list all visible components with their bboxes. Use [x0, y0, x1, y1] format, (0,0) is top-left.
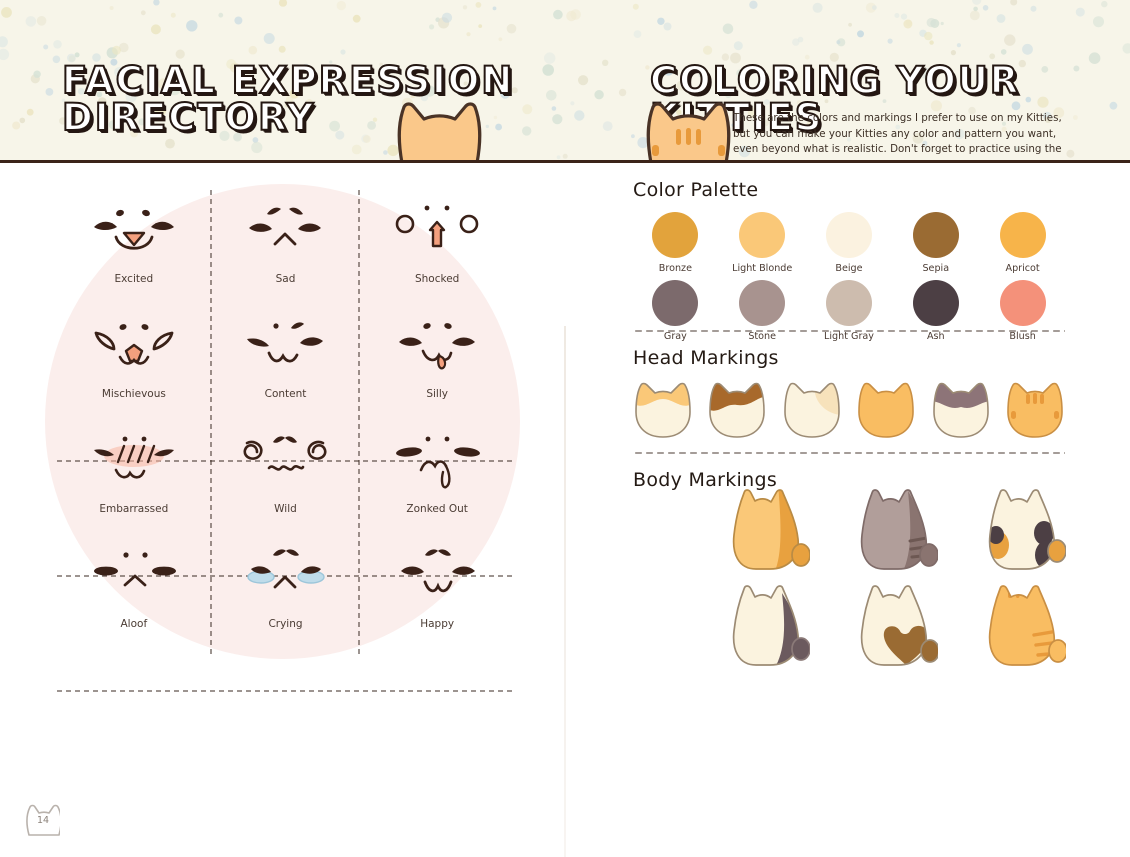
section-divider	[633, 330, 1065, 332]
head-marking-sepia-cap	[706, 381, 768, 439]
swatch-beige: Beige	[806, 212, 893, 274]
content-area: Excited Sad	[0, 163, 1130, 694]
swatch-sepia: Sepia	[892, 212, 979, 274]
expression-cell-silly: Silly	[361, 308, 513, 423]
swatch-label: Light Blonde	[732, 263, 792, 274]
swatch-color	[739, 212, 785, 258]
swatch-light-gray: Light Gray	[806, 280, 893, 342]
swatch-color	[826, 280, 872, 326]
swatch-label: Blush	[1009, 331, 1035, 342]
expression-cell-content: Content	[210, 308, 362, 423]
expression-label: Shocked	[415, 273, 459, 285]
swatch-color	[913, 212, 959, 258]
expression-label: Wild	[274, 503, 297, 515]
expression-grid: Excited Sad	[58, 193, 513, 653]
face-aloof-art	[80, 542, 188, 614]
peeking-cat-icon	[392, 101, 487, 163]
face-wild-art	[231, 427, 339, 499]
grid-divider-horizontal	[55, 690, 515, 692]
body-markings-row	[726, 579, 1066, 667]
color-palette-grid: Bronze Light Blonde Beige Sepia Apricot	[632, 212, 1066, 342]
page-number-left: 14	[37, 815, 49, 826]
swatch-label: Gray	[664, 331, 687, 342]
face-zonked-out-art	[383, 427, 491, 499]
face-excited-art	[80, 197, 188, 269]
face-content-art	[231, 312, 339, 384]
expression-label: Aloof	[121, 618, 148, 630]
face-silly-art	[383, 312, 491, 384]
expression-label: Embarrassed	[99, 503, 168, 515]
header-band: FACIAL EXPRESSION DIRECTORY COLORING YOU…	[0, 0, 1130, 163]
face-happy-art	[383, 542, 491, 614]
expression-label: Happy	[420, 618, 454, 630]
body-marking-apricot-two-tone	[726, 483, 810, 571]
swatch-blush: Blush	[979, 280, 1066, 342]
section-heading-color-palette: Color Palette	[633, 179, 758, 201]
expression-label: Zonked Out	[406, 503, 467, 515]
body-markings-grid	[726, 483, 1066, 675]
swatch-label: Ash	[927, 331, 945, 342]
intro-paragraph: These are the colors and markings I pref…	[733, 111, 1076, 163]
swatch-bronze: Bronze	[632, 212, 719, 274]
expression-cell-zonked-out: Zonked Out	[361, 423, 513, 538]
swatch-gray: Gray	[632, 280, 719, 342]
swatch-label: Beige	[835, 263, 862, 274]
page-number-badge-left: 14	[26, 804, 60, 836]
swatch-label: Bronze	[659, 263, 692, 274]
peeking-tabby-cat-icon	[641, 101, 736, 163]
body-marking-calico	[982, 483, 1066, 571]
expression-label: Sad	[276, 273, 296, 285]
body-marking-ash-rear	[726, 579, 810, 667]
swatch-color	[913, 280, 959, 326]
head-marking-solid-apricot	[855, 381, 917, 439]
expression-cell-aloof: Aloof	[58, 538, 210, 653]
swatch-color	[739, 280, 785, 326]
head-marking-apricot-tabby	[1004, 381, 1066, 439]
face-crying-art	[231, 542, 339, 614]
expression-label: Mischievous	[102, 388, 166, 400]
swatch-light-blonde: Light Blonde	[719, 212, 806, 274]
expression-cell-excited: Excited	[58, 193, 210, 308]
swatch-ash: Ash	[892, 280, 979, 342]
swatch-label: Light Gray	[824, 331, 874, 342]
body-marking-sepia-heart	[854, 579, 938, 667]
swatch-label: Stone	[748, 331, 776, 342]
expression-cell-mischievous: Mischievous	[58, 308, 210, 423]
head-marking-beige-side	[781, 381, 843, 439]
expression-cell-embarrassed: Embarrassed	[58, 423, 210, 538]
swatch-color	[826, 212, 872, 258]
section-heading-head-markings: Head Markings	[633, 347, 779, 369]
expression-cell-shocked: Shocked	[361, 193, 513, 308]
body-marking-apricot-stripes	[982, 579, 1066, 667]
head-marking-gray-cap	[930, 381, 992, 439]
head-markings-row	[632, 381, 1066, 439]
swatch-label: Sepia	[922, 263, 949, 274]
swatch-color	[652, 280, 698, 326]
swatch-color	[1000, 212, 1046, 258]
body-markings-row	[726, 483, 1066, 571]
head-marking-blonde-cap	[632, 381, 694, 439]
expression-cell-wild: Wild	[210, 423, 362, 538]
face-embarrassed-art	[80, 427, 188, 499]
expression-label: Crying	[268, 618, 302, 630]
expression-label: Silly	[426, 388, 448, 400]
left-page: Excited Sad	[0, 163, 565, 694]
body-marking-stone-tabby	[854, 483, 938, 571]
swatch-stone: Stone	[719, 280, 806, 342]
swatch-label: Apricot	[1006, 263, 1040, 274]
swatch-color	[1000, 280, 1046, 326]
expression-cell-happy: Happy	[361, 538, 513, 653]
face-sad-art	[231, 197, 339, 269]
spread: FACIAL EXPRESSION DIRECTORY COLORING YOU…	[0, 0, 1130, 694]
face-mischievous-art	[80, 312, 188, 384]
right-page: Color Palette Bronze Light Blonde Beige …	[566, 163, 1130, 694]
expression-cell-crying: Crying	[210, 538, 362, 653]
face-shocked-art	[383, 197, 491, 269]
expression-cell-sad: Sad	[210, 193, 362, 308]
expression-label: Excited	[115, 273, 154, 285]
swatch-color	[652, 212, 698, 258]
section-divider	[633, 452, 1065, 454]
expression-label: Content	[265, 388, 307, 400]
swatch-apricot: Apricot	[979, 212, 1066, 274]
